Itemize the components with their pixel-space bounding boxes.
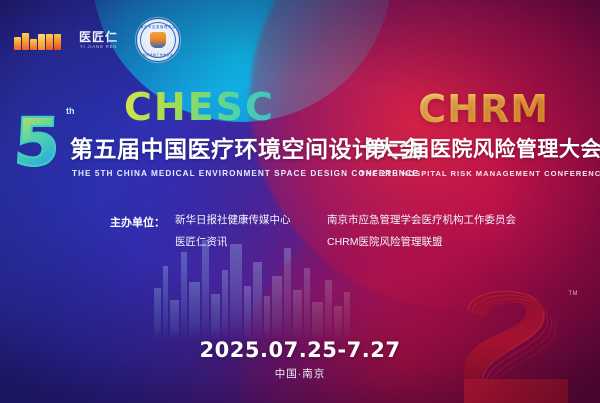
sponsor-logo-bar: 医匠仁 YI JIANG REN 南京市应急管理学会 医疗机构工作委员会 — [14, 18, 180, 62]
organizer-item: 新华日报社健康传媒中心 — [175, 212, 327, 229]
seal-bottom-text: 医疗机构工作委员会 — [137, 53, 179, 57]
right-conference-block: CHRM 第二届医院风险管理大会 THE 2TH HOSPITAL RISK M… — [360, 88, 600, 178]
seal-top-text: 南京市应急管理学会 — [137, 24, 179, 29]
yijiangren-logo-cn: 医匠仁 — [79, 31, 118, 43]
yijiangren-logo: 医匠仁 YI JIANG REN — [79, 31, 118, 49]
yijiangren-logo-en: YI JIANG REN — [79, 45, 118, 49]
organizer-item: 南京市应急管理学会医疗机构工作委员会 — [327, 212, 537, 229]
edition-numeral-5: 5 — [14, 110, 76, 172]
xinhua-daily-logo-icon — [14, 30, 61, 50]
right-cn-title: 第二届医院风险管理大会 — [360, 133, 600, 163]
organizers-column-2: 南京市应急管理学会医疗机构工作委员会 CHRM医院风险管理联盟 — [327, 212, 537, 251]
event-date: 2025.07.25-7.27 — [0, 338, 600, 362]
association-seal-icon: 南京市应急管理学会 医疗机构工作委员会 — [136, 18, 180, 62]
edition-number: 5 — [12, 110, 77, 176]
left-cn-title: 第五届中国医疗环境空间设计大会 — [70, 130, 360, 164]
organizers-section: 主办单位： 新华日报社健康传媒中心 医匠仁资讯 南京市应急管理学会医疗机构工作委… — [110, 212, 537, 251]
conference-titles: CHESC 5 th 第五届中国医疗环境空间设计大会 THE 5TH CHINA… — [0, 88, 600, 178]
edition-suffix: th — [66, 106, 75, 116]
chrm-acronym: CHRM — [360, 90, 600, 128]
organizer-item: 医匠仁资讯 — [175, 234, 327, 251]
event-location: 中国·南京 — [0, 366, 600, 381]
chesc-acronym: CHESC — [124, 88, 360, 126]
seal-emblem-figure — [150, 32, 166, 48]
left-en-title: THE 5TH CHINA MEDICAL ENVIRONMENT SPACE … — [72, 169, 360, 178]
right-en-title: THE 2TH HOSPITAL RISK MANAGEMENT CONFERE… — [360, 169, 600, 178]
left-conference-block: CHESC 5 th 第五届中国医疗环境空间设计大会 THE 5TH CHINA… — [0, 88, 360, 178]
organizers-label: 主办单位： — [110, 212, 175, 251]
organizers-column-1: 新华日报社健康传媒中心 医匠仁资讯 — [175, 212, 327, 251]
organizer-item: CHRM医院风险管理联盟 — [327, 234, 537, 251]
conference-poster: TM 医匠仁 YI JIANG REN 南京市应急管理学会 医疗机构工作委员会 … — [0, 0, 600, 403]
